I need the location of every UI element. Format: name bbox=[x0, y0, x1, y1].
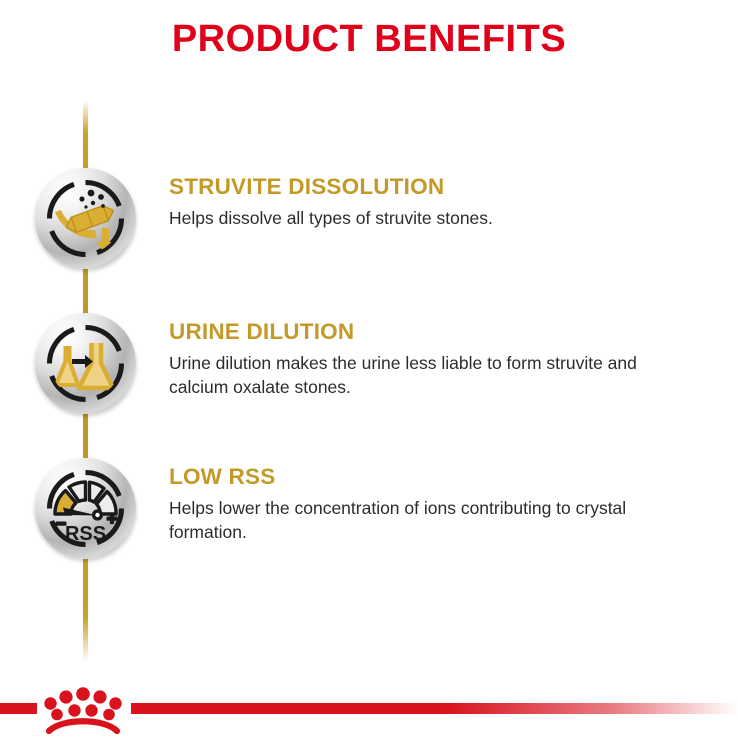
benefit-description: Helps lower the concentration of ions co… bbox=[169, 496, 669, 544]
gauge-icon-glyph: RSS bbox=[35, 458, 136, 559]
product-benefits-page: PRODUCT BENEFITS bbox=[0, 0, 738, 745]
struvite-crystal-dissolution-icon bbox=[35, 168, 136, 269]
page-title: PRODUCT BENEFITS bbox=[0, 16, 738, 62]
footer-rule-left bbox=[0, 703, 37, 714]
benefit-heading: LOW RSS bbox=[169, 464, 714, 490]
benefit-description: Urine dilution makes the urine less liab… bbox=[169, 351, 669, 399]
urine-dilution-flask-icon bbox=[35, 313, 136, 414]
footer-rule-right bbox=[131, 703, 738, 714]
benefit-heading: STRUVITE DISSOLUTION bbox=[169, 174, 714, 200]
royal-canin-crown-logo bbox=[40, 684, 126, 734]
benefit-item-urine-dilution: URINE DILUTION Urine dilution makes the … bbox=[0, 313, 738, 458]
benefit-item-struvite-dissolution: STRUVITE DISSOLUTION Helps dissolve all … bbox=[0, 168, 738, 313]
benefit-item-low-rss: RSS LOW RSS Helps lower the concentratio… bbox=[0, 458, 738, 603]
low-rss-gauge-icon: RSS bbox=[35, 458, 136, 559]
benefits-list: STRUVITE DISSOLUTION Helps dissolve all … bbox=[0, 168, 738, 603]
benefit-description: Helps dissolve all types of struvite sto… bbox=[169, 206, 669, 230]
benefit-text-block: LOW RSS Helps lower the concentration of… bbox=[169, 464, 714, 544]
benefit-text-block: URINE DILUTION Urine dilution makes the … bbox=[169, 319, 714, 399]
benefit-heading: URINE DILUTION bbox=[169, 319, 714, 345]
struvite-icon-glyph bbox=[35, 168, 136, 269]
flask-icon-glyph bbox=[35, 313, 136, 414]
benefit-text-block: STRUVITE DISSOLUTION Helps dissolve all … bbox=[169, 174, 714, 230]
